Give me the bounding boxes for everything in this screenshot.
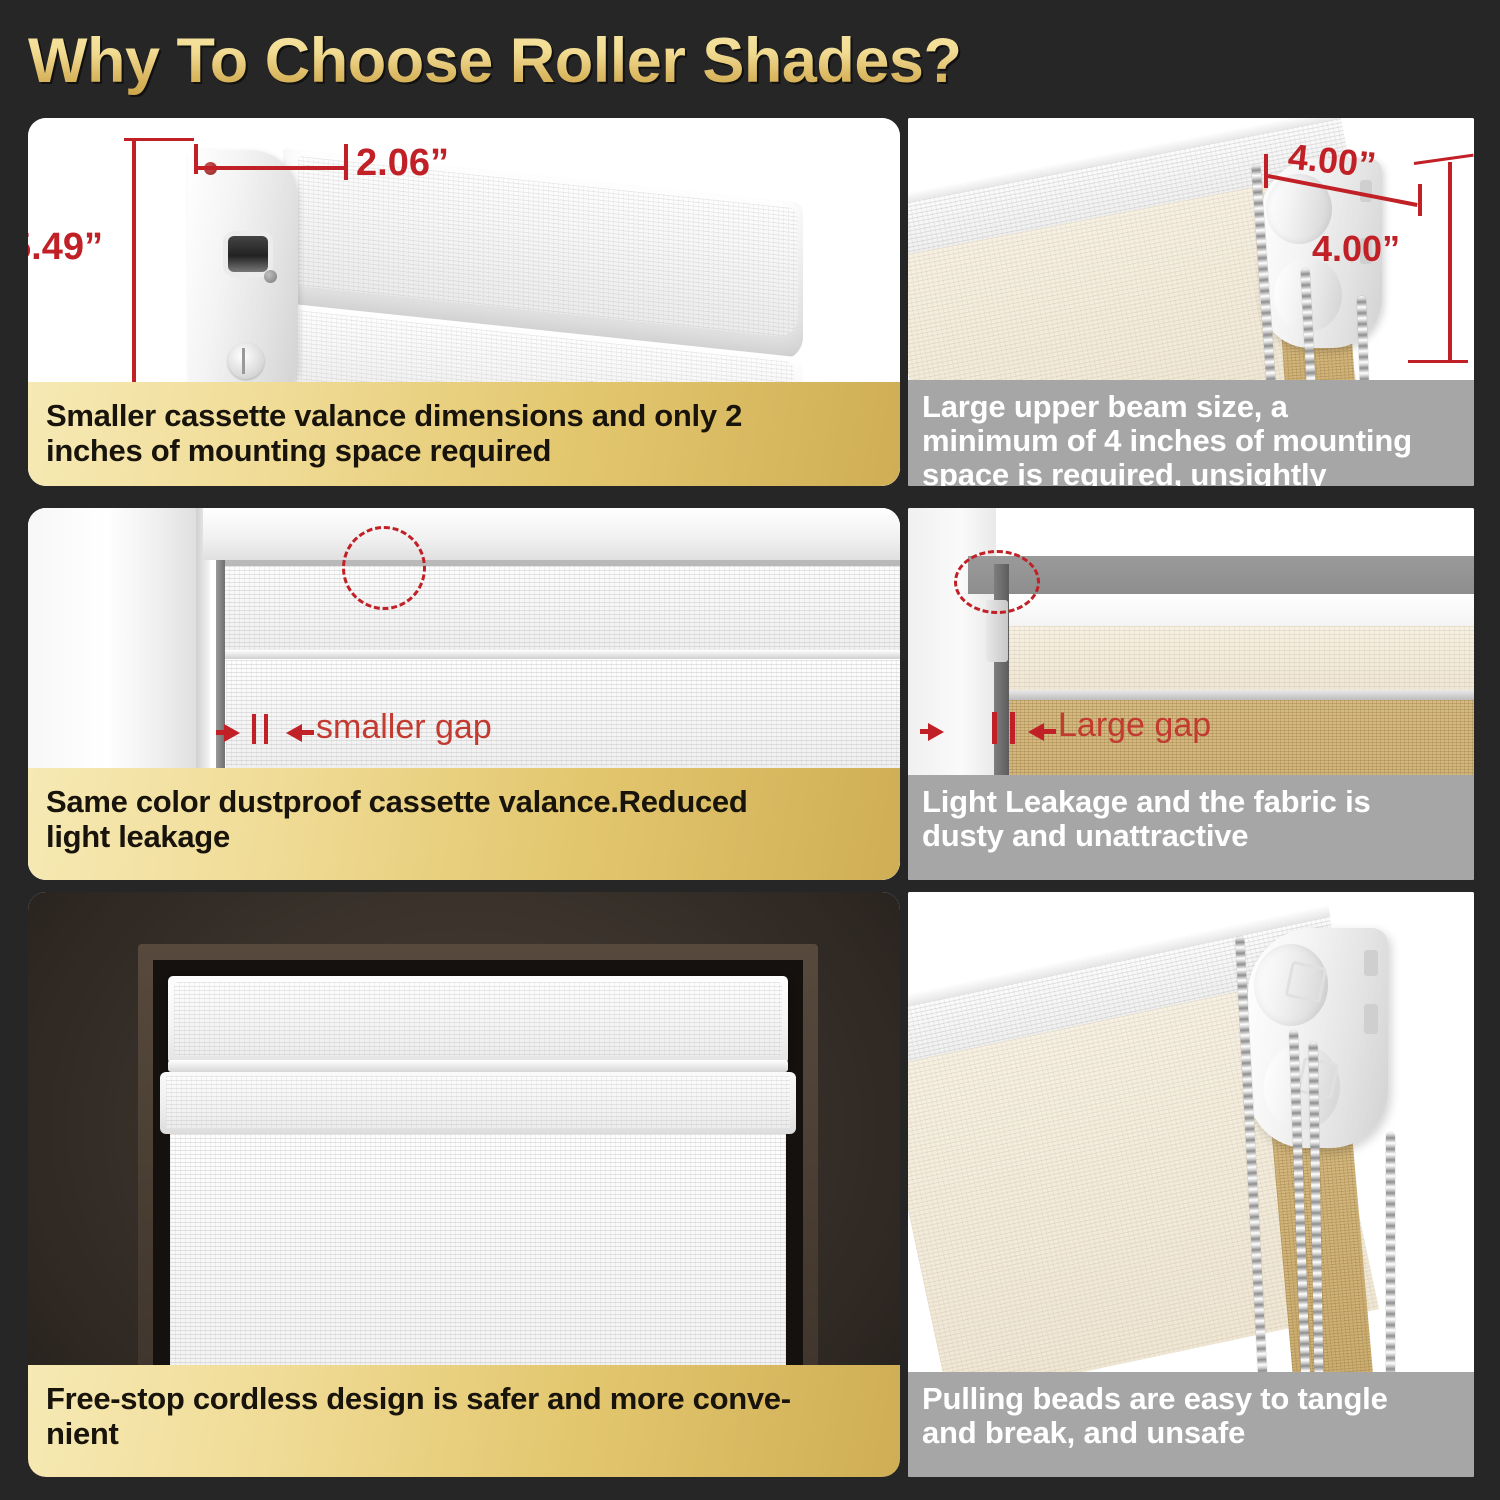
width-dimension-label: 4.00” xyxy=(1286,136,1378,187)
caption-line: minimum of 4 inches of mounting xyxy=(922,424,1412,458)
caption-line: Free-stop cordless design is safer and m… xyxy=(46,1381,791,1416)
height-dimension-label: 5.49” xyxy=(28,226,103,269)
panel-4-caption: Light Leakage and the fabric is dusty an… xyxy=(908,775,1474,880)
caption-line: dusty and unattractive xyxy=(922,819,1371,853)
caption-line: Large upper beam size, a xyxy=(922,390,1412,424)
caption-line: Smaller cassette valance dimensions and … xyxy=(46,398,742,433)
panel-light-leakage: Large gap Light Leakage and the fabric i… xyxy=(908,508,1474,880)
gap-label: smaller gap xyxy=(316,708,492,747)
width-dimension-line xyxy=(196,166,348,170)
height-dimension-label: 4.00” xyxy=(1312,228,1400,270)
height-dimension-line xyxy=(1448,162,1452,362)
panel-3-caption: Same color dustproof cassette valance.Re… xyxy=(28,768,900,880)
panel-1-caption: Smaller cassette valance dimensions and … xyxy=(28,382,900,486)
panel-6-caption: Pulling beads are easy to tangle and bre… xyxy=(908,1372,1474,1477)
panel-2-caption: Large upper beam size, a minimum of 4 in… xyxy=(908,380,1474,486)
height-dimension-line xyxy=(132,138,136,388)
panel-smaller-cassette: 2.06” 5.49” Smaller cassette valance dim… xyxy=(28,118,900,486)
caption-line: and break, and unsafe xyxy=(922,1416,1388,1450)
caption-line: inches of mounting space required xyxy=(46,433,742,468)
panel-dustproof-valance: smaller gap Same color dustproof cassett… xyxy=(28,508,900,880)
caption-line: light leakage xyxy=(46,819,747,854)
highlight-circle xyxy=(954,550,1040,614)
caption-line: Same color dustproof cassette valance.Re… xyxy=(46,784,747,819)
panel-large-upper-beam: 4.00” 4.00” Large upper beam size, a min… xyxy=(908,118,1474,486)
panel-5-caption: Free-stop cordless design is safer and m… xyxy=(28,1365,900,1477)
caption-line: Light Leakage and the fabric is xyxy=(922,785,1371,819)
caption-line: nient xyxy=(46,1416,791,1451)
caption-line: Pulling beads are easy to tangle xyxy=(922,1382,1388,1416)
caption-line: space is required, unsightly xyxy=(922,458,1412,486)
panel-pulling-beads: Pulling beads are easy to tangle and bre… xyxy=(908,892,1474,1477)
page-title: Why To Choose Roller Shades? xyxy=(28,22,1128,100)
width-dimension-label: 2.06” xyxy=(356,142,449,185)
panel-cordless-design: Free-stop cordless design is safer and m… xyxy=(28,892,900,1477)
gap-label: Large gap xyxy=(1058,706,1211,745)
highlight-circle xyxy=(342,526,426,610)
